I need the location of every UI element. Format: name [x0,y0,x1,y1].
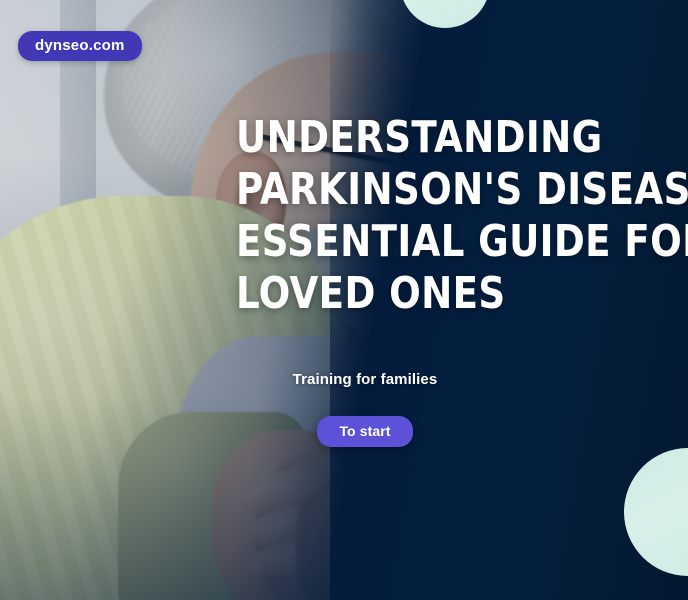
subtitle-wrapper: Training for families [235,371,495,391]
headline-line-2: PARKINSON'S DISEASE: [236,164,612,216]
cta-wrapper: To start [235,416,495,447]
headline-line-1: UNDERSTANDING [236,112,612,164]
promo-banner: dynseo.com UNDERSTANDING PARKINSON'S DIS… [0,0,688,600]
brand-logo-badge[interactable]: dynseo.com [18,31,142,61]
headline-line-4: LOVED ONES [236,268,612,320]
to-start-button[interactable]: To start [317,416,412,447]
subtitle-text: Training for families [235,371,495,388]
headline-block: UNDERSTANDING PARKINSON'S DISEASE: ESSEN… [236,112,636,320]
page-title: UNDERSTANDING PARKINSON'S DISEASE: ESSEN… [236,112,612,320]
headline-line-3: ESSENTIAL GUIDE FOR [236,216,612,268]
